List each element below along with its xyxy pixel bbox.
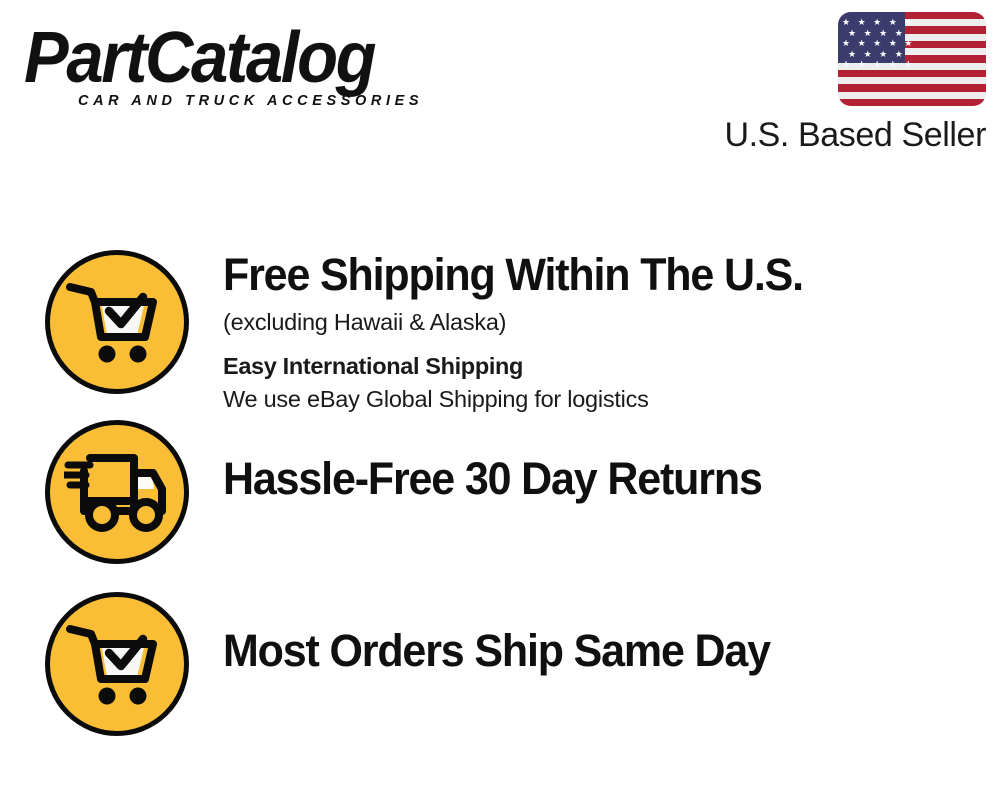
benefit-title: Free Shipping Within The U.S.: [223, 252, 965, 298]
flag-star-row: ★ ★ ★ ★ ★: [842, 38, 986, 49]
flag-star-row: ★ ★ ★ ★ ★: [842, 59, 986, 70]
benefit-title: Hassle-Free 30 Day Returns: [223, 456, 965, 502]
us-flag: ★ ★ ★ ★ ★ ★ ★ ★ ★ ★ ★ ★ ★ ★ ★ ★ ★ ★ ★ ★ …: [838, 12, 986, 106]
shopping-cart-check-icon: [45, 250, 189, 394]
us-based-seller-label: U.S. Based Seller: [722, 116, 986, 155]
benefit-text-block: Free Shipping Within The U.S. (excluding…: [223, 250, 1000, 415]
us-flag-graphic: ★ ★ ★ ★ ★ ★ ★ ★ ★ ★ ★ ★ ★ ★ ★ ★ ★ ★ ★ ★ …: [838, 12, 986, 106]
page-header: PartCatalog CAR AND TRUCK ACCESSORIES ★ …: [0, 0, 1000, 180]
flag-star-row: ★ ★ ★ ★ ★: [842, 17, 986, 28]
brand-logo[interactable]: PartCatalog CAR AND TRUCK ACCESSORIES: [24, 26, 494, 109]
shopping-cart-check-icon: [45, 592, 189, 736]
benefit-subtitle-logistics: We use eBay Global Shipping for logistic…: [223, 384, 1000, 415]
flag-stars: ★ ★ ★ ★ ★ ★ ★ ★ ★ ★ ★ ★ ★ ★ ★ ★ ★ ★ ★ ★ …: [838, 12, 986, 106]
benefit-row-free-shipping: Free Shipping Within The U.S. (excluding…: [0, 250, 1000, 415]
benefit-text-block: Most Orders Ship Same Day: [223, 592, 1000, 674]
flag-star-row: ★ ★ ★ ★: [842, 49, 986, 60]
benefit-subtitle-international: Easy International Shipping: [223, 351, 1000, 382]
benefit-row-same-day: Most Orders Ship Same Day: [0, 592, 1000, 736]
benefit-title: Most Orders Ship Same Day: [223, 628, 965, 674]
benefit-row-returns: Hassle-Free 30 Day Returns: [0, 420, 1000, 564]
benefit-text-block: Hassle-Free 30 Day Returns: [223, 420, 1000, 502]
delivery-truck-icon: [45, 420, 189, 564]
benefit-subtitle-exclusion: (excluding Hawaii & Alaska): [223, 307, 1000, 338]
flag-star-row: ★ ★ ★ ★: [842, 28, 986, 39]
brand-logo-wordmark: PartCatalog: [24, 26, 461, 91]
